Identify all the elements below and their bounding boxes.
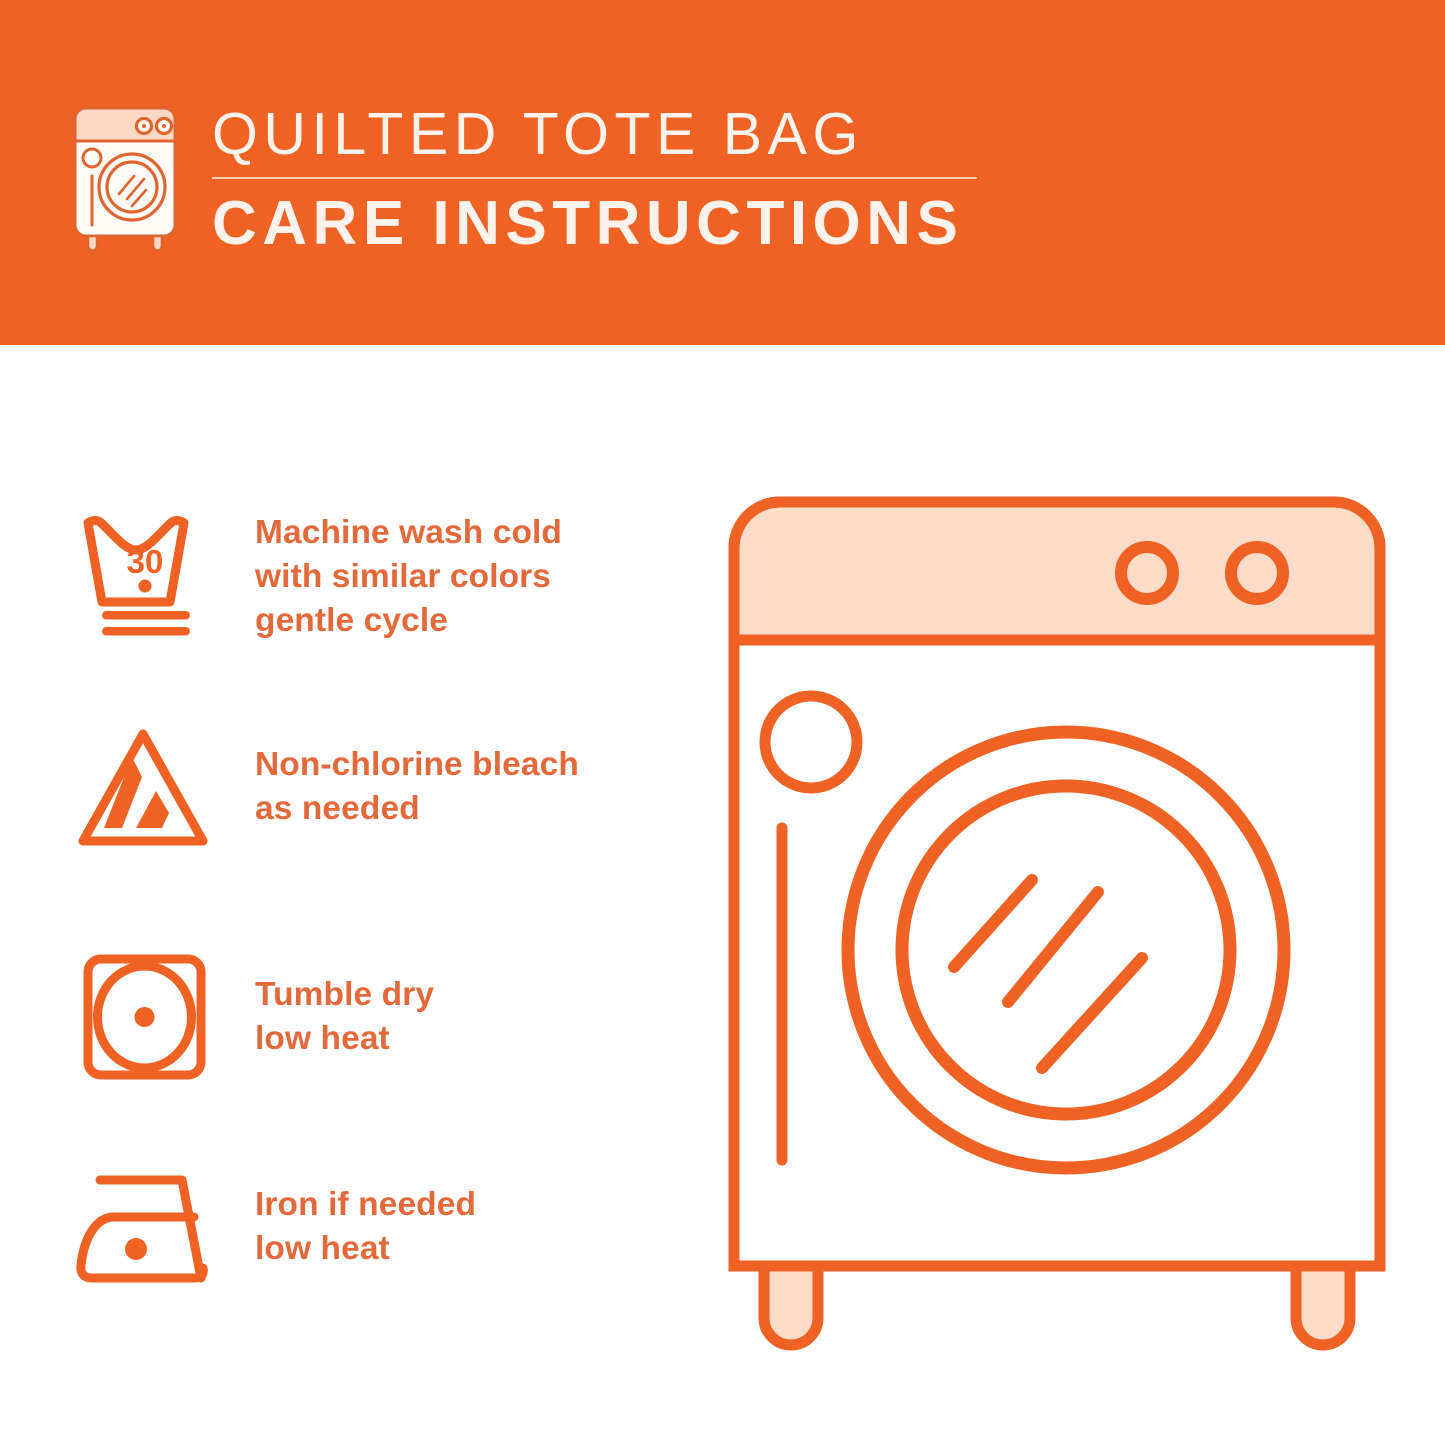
door-outer-ring bbox=[848, 732, 1284, 1168]
care-row-tumble-dry: Tumble dry low heat bbox=[70, 944, 690, 1089]
header-band: QUILTED TOTE BAG CARE INSTRUCTIONS bbox=[0, 0, 1445, 345]
care-text-line: Non-chlorine bleach bbox=[255, 743, 579, 787]
care-text-line: gentle cycle bbox=[255, 599, 562, 643]
care-row-machine-wash: 30 Machine wash cold with similar colors… bbox=[70, 502, 690, 652]
door-reflection-line bbox=[1042, 958, 1142, 1068]
triangle-non-chlorine-bleach-icon bbox=[70, 720, 235, 855]
care-text-line: low heat bbox=[255, 1017, 434, 1061]
care-row-label: Machine wash cold with similar colors ge… bbox=[235, 511, 562, 643]
front-load-washing-machine-illustration bbox=[712, 480, 1402, 1370]
wash-basin-30-gentle-icon: 30 bbox=[70, 510, 235, 645]
care-text-line: Machine wash cold bbox=[255, 511, 562, 555]
care-row-label: Iron if needed low heat bbox=[235, 1183, 476, 1271]
machine-leg-left bbox=[764, 1266, 818, 1345]
care-row-label: Tumble dry low heat bbox=[235, 973, 434, 1061]
care-text-line: Tumble dry bbox=[255, 973, 434, 1017]
header-text-block: QUILTED TOTE BAG CARE INSTRUCTIONS bbox=[212, 100, 1002, 260]
control-knob-right bbox=[1231, 547, 1283, 599]
care-text-line: as needed bbox=[255, 787, 579, 831]
title-divider bbox=[212, 177, 977, 179]
page-title: QUILTED TOTE BAG bbox=[212, 100, 1002, 168]
washing-machine-icon bbox=[66, 102, 184, 254]
care-instructions-page: QUILTED TOTE BAG CARE INSTRUCTIONS 30 Ma… bbox=[0, 0, 1445, 1445]
door-inner-ring bbox=[902, 786, 1230, 1114]
machine-leg-right bbox=[1296, 1266, 1350, 1345]
control-knob-left bbox=[1121, 547, 1173, 599]
wash-temperature-value: 30 bbox=[127, 543, 164, 580]
door-reflection-line bbox=[954, 880, 1032, 967]
iron-low-heat-icon bbox=[70, 1160, 235, 1295]
dispenser-circle bbox=[765, 696, 857, 788]
door-reflection-line bbox=[1008, 892, 1098, 1002]
tumble-dry-low-heat-icon bbox=[70, 949, 235, 1084]
care-row-non-chlorine-bleach: Non-chlorine bleach as needed bbox=[70, 716, 690, 858]
care-text-line: low heat bbox=[255, 1227, 476, 1271]
care-row-iron: Iron if needed low heat bbox=[70, 1158, 690, 1296]
care-text-line: Iron if needed bbox=[255, 1183, 476, 1227]
page-subtitle: CARE INSTRUCTIONS bbox=[212, 188, 1002, 260]
care-text-line: with similar colors bbox=[255, 555, 562, 599]
care-row-label: Non-chlorine bleach as needed bbox=[235, 743, 579, 831]
